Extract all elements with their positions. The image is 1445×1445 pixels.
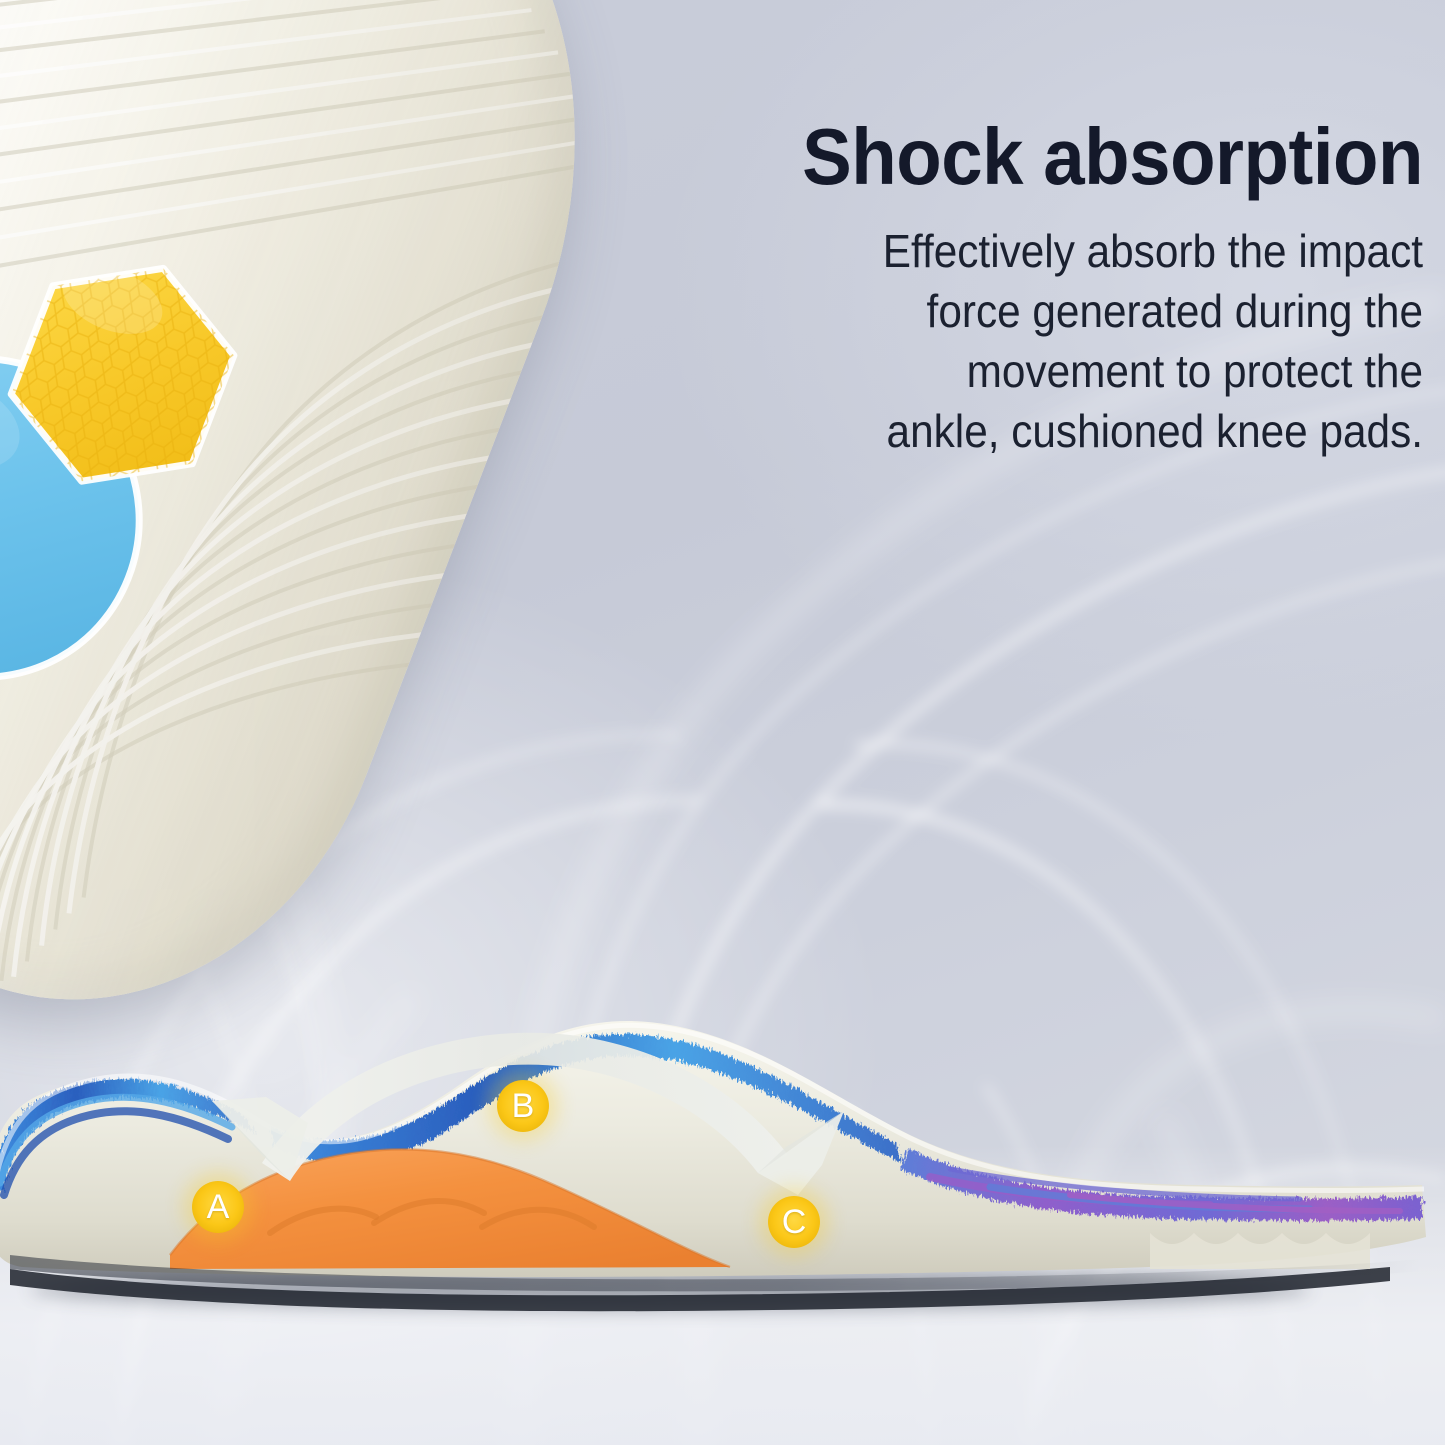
marker-a[interactable]: A	[192, 1181, 244, 1233]
marker-c[interactable]: C	[768, 1196, 820, 1248]
description-line-4: ankle, cushioned knee pads.	[696, 402, 1423, 462]
description-line-3: movement to protect the	[696, 342, 1423, 402]
feature-text-block: Shock absorption Effectively absorb the …	[633, 118, 1423, 462]
marker-b-label: B	[512, 1089, 535, 1123]
flex-motion-arrow	[170, 1005, 870, 1265]
description-line-2: force generated during the	[696, 282, 1423, 342]
marker-b[interactable]: B	[497, 1080, 549, 1132]
marker-c-label: C	[782, 1205, 807, 1239]
description-line-1: Effectively absorb the impact	[696, 222, 1423, 282]
page-title: Shock absorption	[688, 118, 1423, 196]
product-feature-image: A B C Shock absorption Effectively absor…	[0, 0, 1445, 1445]
marker-a-label: A	[207, 1190, 230, 1224]
feature-description: Effectively absorb the impact force gene…	[696, 222, 1423, 461]
